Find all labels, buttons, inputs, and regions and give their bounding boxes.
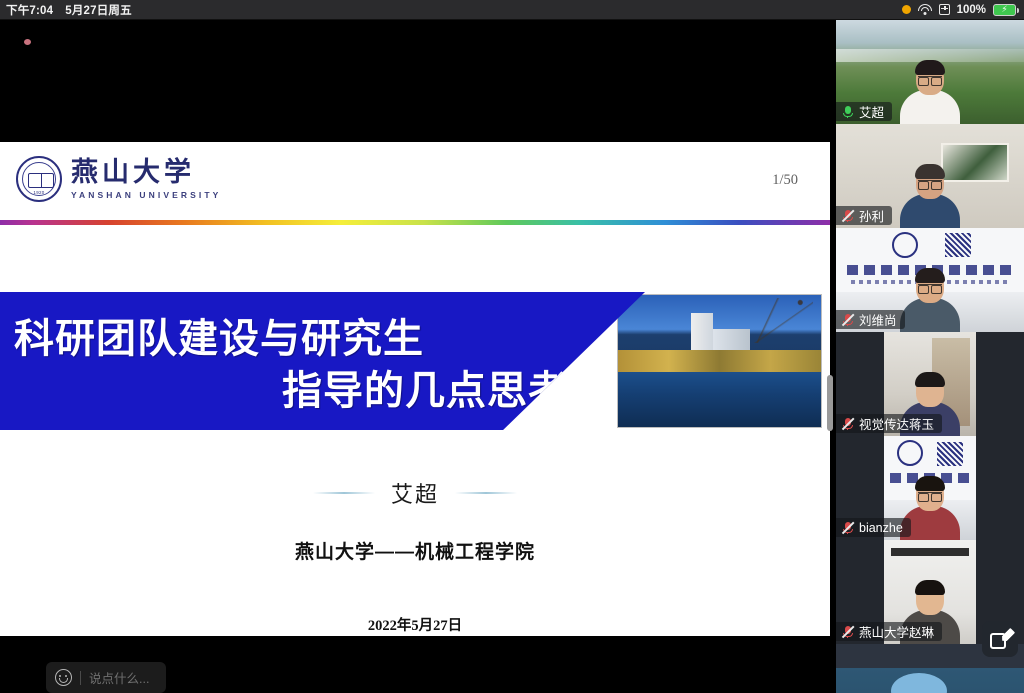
mic-muted-icon[interactable] xyxy=(841,417,854,431)
presenter-name-row: 艾超 xyxy=(0,477,830,509)
annotate-button[interactable] xyxy=(982,621,1018,657)
presentation-date: 2022年5月27日 xyxy=(0,614,830,635)
logo-name-cn: 燕山大学 xyxy=(71,159,221,186)
campus-photo xyxy=(617,294,822,428)
menu-bar-status-items: 100% ⚡ xyxy=(902,4,1024,16)
participant-name-badge: 燕山大学赵琳 xyxy=(836,622,942,641)
slide-header: 1920 燕山大学 YANSHAN UNIVERSITY 1/50 xyxy=(0,142,830,222)
mic-muted-icon[interactable] xyxy=(841,521,854,535)
slide-title-line-1: 科研团队建设与研究生 xyxy=(14,306,424,364)
mic-muted-icon[interactable] xyxy=(841,313,854,327)
clock-time[interactable]: 下午7:04 xyxy=(6,2,53,18)
participant-tile[interactable]: 视觉传达蒋玉 xyxy=(836,332,1024,436)
chat-input-placeholder[interactable]: 说点什么... xyxy=(89,668,149,687)
divider xyxy=(80,671,81,685)
participant-name-badge: 孙利 xyxy=(836,206,892,225)
title-banner: 科研团队建设与研究生 指导的几点思考 xyxy=(0,292,645,430)
university-logo: 1920 燕山大学 YANSHAN UNIVERSITY xyxy=(16,156,221,202)
wifi-icon[interactable] xyxy=(918,4,932,15)
participant-avatar xyxy=(899,270,961,332)
participant-name-badge: bianzhe xyxy=(836,518,911,537)
participant-name: 视觉传达蒋玉 xyxy=(859,414,934,433)
seal-year-label: 1920 xyxy=(18,190,60,195)
slide-scrollbar-thumb[interactable] xyxy=(827,375,833,431)
clock-date[interactable]: 5月27日周五 xyxy=(65,2,132,18)
presentation-slide[interactable]: 1920 燕山大学 YANSHAN UNIVERSITY 1/50 科研团队建设… xyxy=(0,142,830,636)
mic-muted-icon[interactable] xyxy=(841,625,854,639)
participant-name: 艾超 xyxy=(859,102,884,121)
participant-name: 燕山大学赵琳 xyxy=(859,622,934,641)
slide-title-line-2: 指导的几点思考 xyxy=(282,358,569,416)
participant-name: 孙利 xyxy=(859,206,884,225)
participant-name-badge: 视觉传达蒋玉 xyxy=(836,414,942,433)
control-center-icon[interactable] xyxy=(939,4,950,15)
participant-tile[interactable]: 孙利 xyxy=(836,124,1024,228)
meeting-screen: 下午7:04 5月27日周五 100% ⚡ 录制中 ▾ 1920 xyxy=(0,0,1024,693)
participant-avatar xyxy=(899,166,961,228)
presenter-name: 艾超 xyxy=(391,477,439,509)
participant-avatar xyxy=(899,62,961,124)
participant-name-badge: 刘维尚 xyxy=(836,310,905,329)
university-seal-icon: 1920 xyxy=(16,156,62,202)
pencil-annotate-icon xyxy=(990,629,1010,649)
orange-dot-icon xyxy=(902,5,911,14)
mic-on-icon[interactable] xyxy=(841,105,854,119)
participant-name: 刘维尚 xyxy=(859,310,897,329)
system-menu-bar: 下午7:04 5月27日周五 100% ⚡ xyxy=(0,0,1024,20)
battery-percent-label: 100% xyxy=(957,4,986,16)
logo-name-en: YANSHAN UNIVERSITY xyxy=(71,190,221,200)
participant-tile[interactable]: 刘维尚 xyxy=(836,228,1024,332)
menu-bar-left: 下午7:04 5月27日周五 xyxy=(0,2,132,18)
mic-muted-icon[interactable] xyxy=(841,209,854,223)
decor-line-right xyxy=(455,492,517,494)
participant-rail[interactable]: 艾超 孙利 xyxy=(836,20,1024,693)
battery-charging-icon[interactable]: ⚡ xyxy=(993,4,1016,16)
shared-screen-stage[interactable]: 1920 燕山大学 YANSHAN UNIVERSITY 1/50 科研团队建设… xyxy=(0,20,836,693)
presenter-block: 艾超 燕山大学——机械工程学院 2022年5月27日 xyxy=(0,477,830,635)
participant-name-badge: 艾超 xyxy=(836,102,892,121)
rail-footer xyxy=(836,668,1024,693)
rainbow-divider xyxy=(0,220,830,225)
participant-tile[interactable]: 艾超 xyxy=(836,20,1024,124)
presenter-organization: 燕山大学——机械工程学院 xyxy=(0,537,830,564)
smiley-icon[interactable] xyxy=(55,669,72,686)
participant-name: bianzhe xyxy=(859,521,903,535)
slide-page-indicator: 1/50 xyxy=(772,172,798,189)
decor-line-left xyxy=(313,492,375,494)
chat-input-bar[interactable]: 说点什么... xyxy=(46,662,166,693)
participant-tile[interactable]: bianzhe xyxy=(836,436,1024,540)
